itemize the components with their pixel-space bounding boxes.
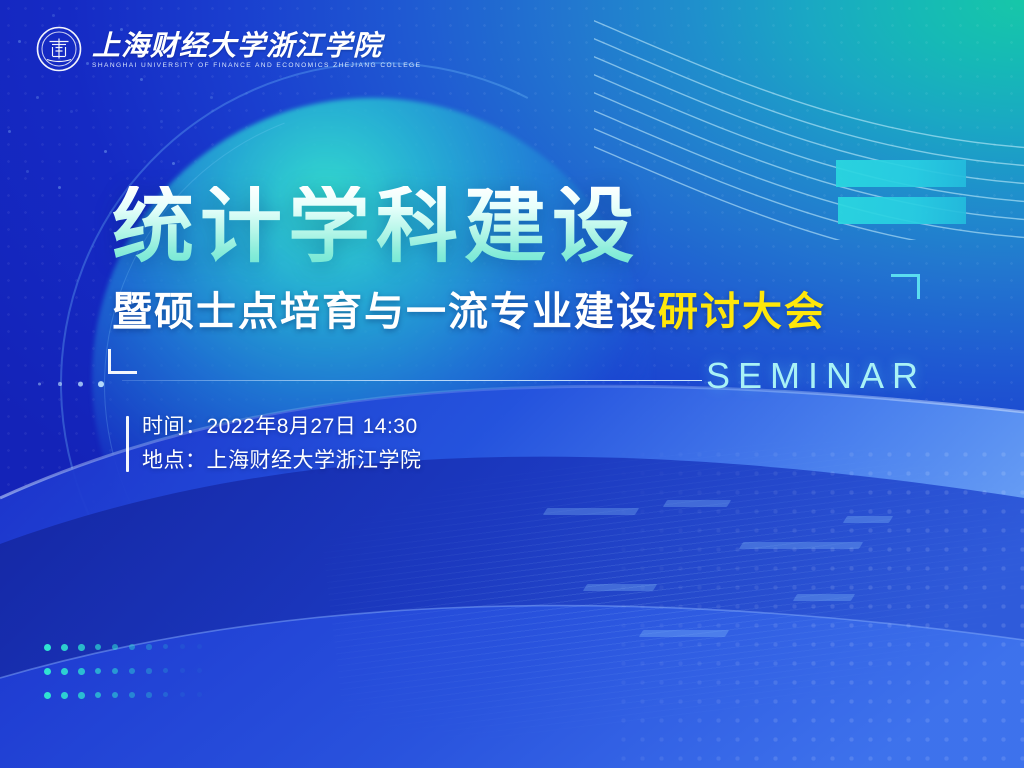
seminar-label: SEMINAR: [706, 358, 926, 394]
dot-row-accent: [38, 378, 114, 390]
subtitle-plain-text: 暨硕士点培育与一流专业建设: [112, 290, 658, 334]
university-seal-icon: [36, 26, 82, 72]
logo-chinese-name: 上海财经大学浙江学院: [92, 29, 421, 61]
dot-grid-pattern: [44, 644, 214, 712]
page-subtitle: 暨硕士点培育与一流专业建设研讨大会: [112, 292, 826, 332]
university-logo: 上海财经大学浙江学院 SHANGHAI UNIVERSITY OF FINANC…: [36, 26, 421, 72]
info-accent-bar: [126, 416, 129, 472]
logo-english-name: SHANGHAI UNIVERSITY OF FINANCE AND ECONO…: [92, 62, 421, 69]
subtitle-accent-text: 研讨大会: [658, 290, 826, 334]
corner-bracket-bottom-left-icon: [108, 349, 137, 374]
title-divider-rule: [122, 380, 702, 381]
event-location: 地点：上海财经大学浙江学院: [142, 444, 422, 478]
dash-marks: [545, 498, 975, 678]
page-title: 统计学科建设: [112, 186, 640, 268]
event-info-block: 时间：2022年8月27日 14:30 地点：上海财经大学浙江学院: [126, 410, 422, 478]
seminar-poster: 上海财经大学浙江学院 SHANGHAI UNIVERSITY OF FINANC…: [0, 0, 1024, 768]
accent-bar-top: [836, 160, 966, 187]
accent-bar-bottom: [838, 197, 966, 224]
corner-bracket-top-right-icon: [891, 274, 920, 299]
event-time: 时间：2022年8月27日 14:30: [142, 410, 422, 444]
